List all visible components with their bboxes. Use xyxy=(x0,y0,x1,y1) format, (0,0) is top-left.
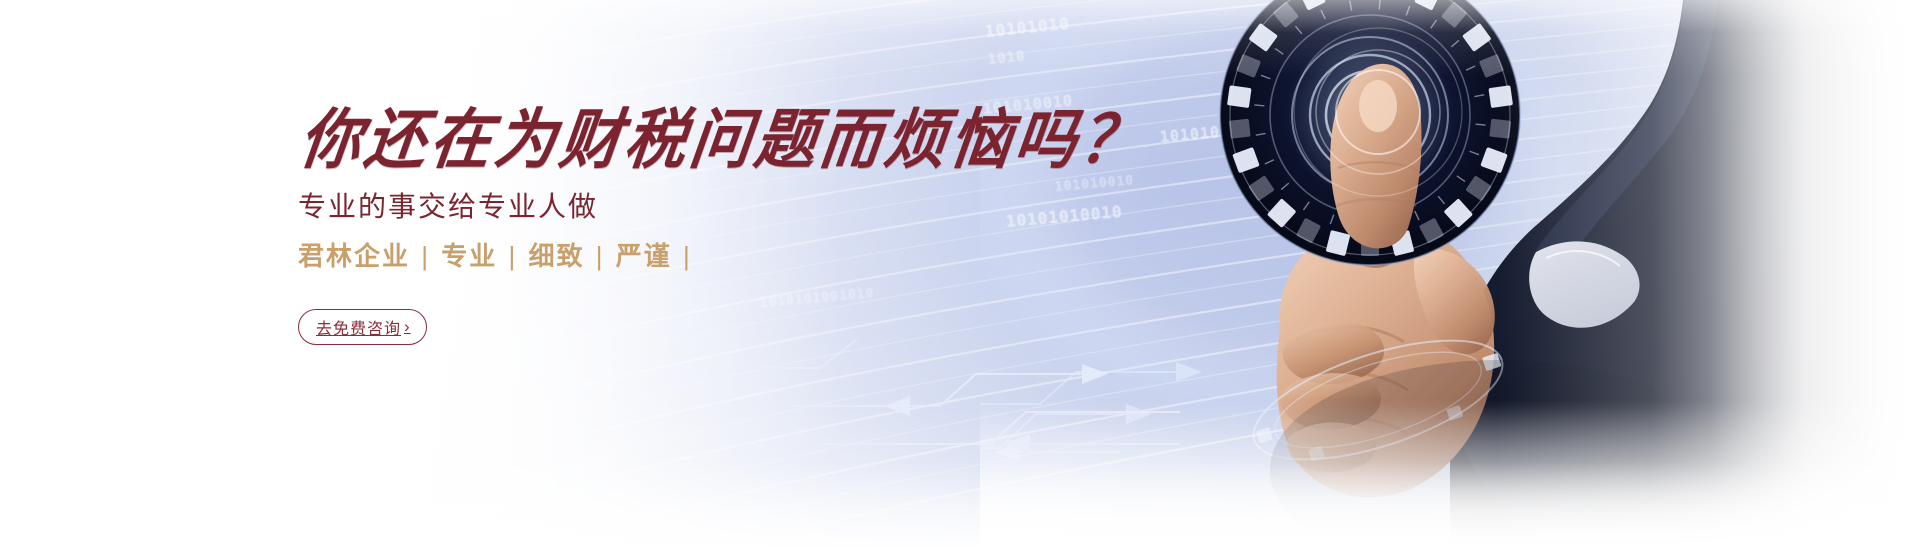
tagline-brand: 君林企业 xyxy=(298,241,410,271)
tagline-separator: | xyxy=(419,241,432,271)
tagline-item-3: 严谨 xyxy=(616,241,672,271)
banner-tagline: 君林企业 | 专业 | 细致 | 严谨 | xyxy=(298,243,694,269)
tagline-separator: | xyxy=(681,241,694,271)
tagline-separator: | xyxy=(507,241,520,271)
banner-headline: 你还在为财税问题而烦恼吗？ xyxy=(296,109,1149,174)
tagline-item-2: 细致 xyxy=(529,241,585,271)
cta-label: 去免费咨询 xyxy=(316,315,401,339)
banner-subtitle: 专业的事交给专业人做 xyxy=(298,193,598,221)
hero-banner: 10101010 1010 101010010 10101010101010 1… xyxy=(0,0,1920,550)
tagline-separator: | xyxy=(594,241,607,271)
tagline-item-1: 专业 xyxy=(441,241,497,271)
chevron-right-icon: › xyxy=(404,318,411,335)
free-consultation-button[interactable]: 去免费咨询 › xyxy=(298,309,427,345)
banner-content: 你还在为财税问题而烦恼吗？ 专业的事交给专业人做 君林企业 | 专业 | 细致 … xyxy=(296,0,1016,550)
